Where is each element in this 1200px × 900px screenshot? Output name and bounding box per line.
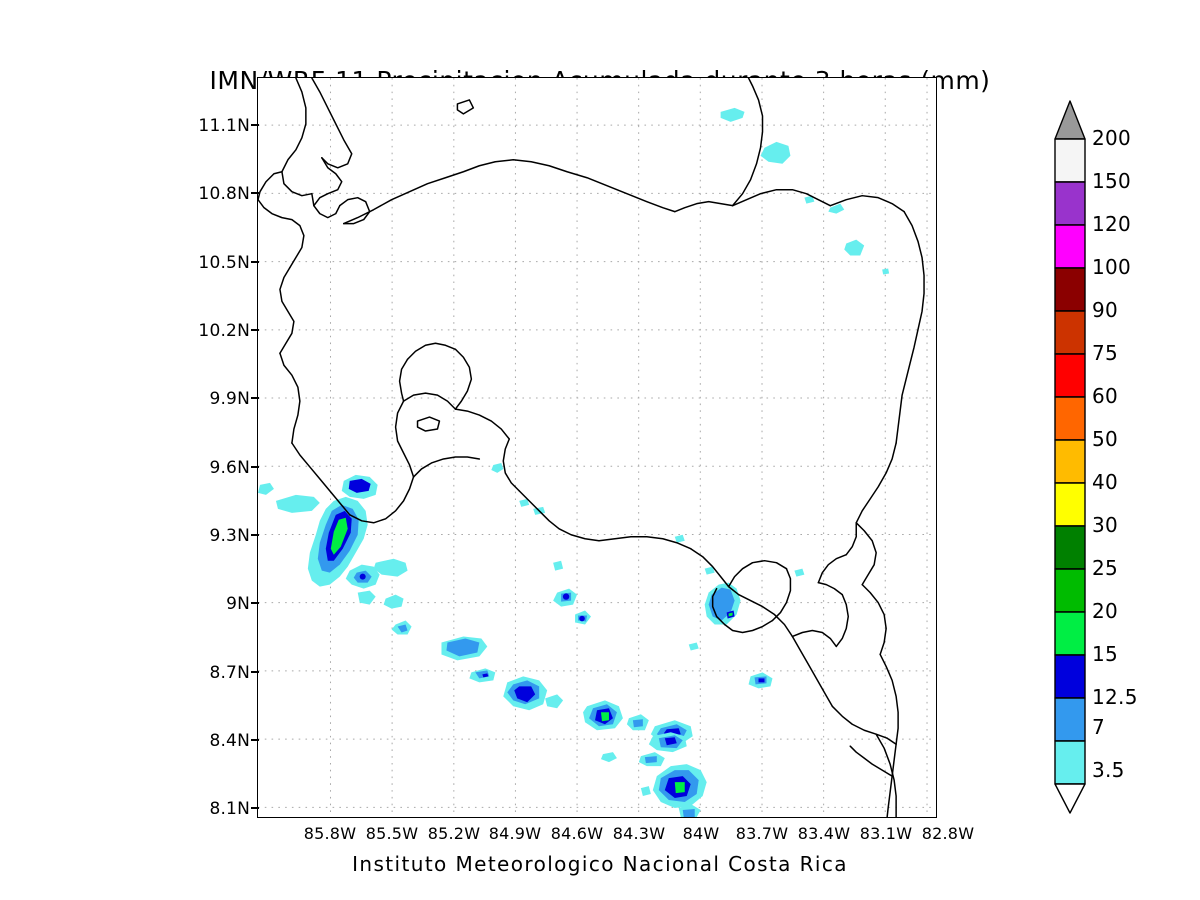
y-tick-mark xyxy=(251,261,259,263)
precip-cell-nicoya xyxy=(308,475,408,605)
y-tick-mark xyxy=(251,466,259,468)
colorbar-tick-label: 50 xyxy=(1092,427,1118,451)
y-tick-mark xyxy=(251,329,259,331)
colorbar-tick-label: 25 xyxy=(1092,556,1118,580)
y-tick-label: 10.5N xyxy=(180,253,250,273)
precip-cell-chain-5 xyxy=(583,700,623,730)
colorbar-tick-label: 15 xyxy=(1092,642,1118,666)
y-tick-label: 9.9N xyxy=(180,389,250,409)
precip-cell-central xyxy=(491,463,591,625)
y-tick-mark xyxy=(251,397,259,399)
colorbar-tick-label: 40 xyxy=(1092,470,1118,494)
y-tick-mark xyxy=(251,192,259,194)
y-tick-label: 9.6N xyxy=(180,458,250,478)
y-tick-mark xyxy=(251,124,259,126)
precip-cell-offshore-west xyxy=(258,483,320,513)
precip-cell-chain-2 xyxy=(441,636,487,660)
y-tick-label: 8.7N xyxy=(180,663,250,683)
colorbar-swatches xyxy=(1051,99,1089,815)
x-tick-label: 82.8W xyxy=(908,824,988,843)
colorbar-tick-label: 7 xyxy=(1092,715,1105,739)
y-tick-mark xyxy=(251,739,259,741)
colorbar-tick-label: 12.5 xyxy=(1092,685,1138,709)
precip-cell-caribbean xyxy=(675,108,889,543)
figure-root: IMN/WRF-11 Precipitacion Acumulada duran… xyxy=(0,0,1200,900)
colorbar-tick-label: 30 xyxy=(1092,513,1118,537)
y-tick-mark xyxy=(251,534,259,536)
precip-cell-chain-1 xyxy=(384,595,412,635)
colorbar-over-arrow xyxy=(1055,101,1085,139)
y-tick-label: 9N xyxy=(180,594,250,614)
colorbar-tick-label: 75 xyxy=(1092,341,1118,365)
precip-cell-chain-8 xyxy=(601,752,665,766)
y-tick-label: 8.4N xyxy=(180,731,250,751)
colorbar-tick-label: 200 xyxy=(1092,126,1131,150)
precip-cell-chain-4 xyxy=(503,676,563,710)
map-canvas xyxy=(258,78,936,817)
colorbar-under-arrow xyxy=(1055,784,1085,813)
precip-cell-chain-6 xyxy=(627,714,649,730)
y-tick-label: 11.1N xyxy=(180,116,250,136)
y-tick-label: 9.3N xyxy=(180,526,250,546)
colorbar-tick-label: 90 xyxy=(1092,298,1118,322)
y-tick-label: 10.8N xyxy=(180,184,250,204)
map-plot-area xyxy=(257,77,937,818)
y-tick-label: 8.1N xyxy=(180,799,250,819)
precip-cell-misc-south xyxy=(553,561,804,651)
y-tick-label: 10.2N xyxy=(180,321,250,341)
colorbar-tick-label: 100 xyxy=(1092,255,1131,279)
colorbar-tick-label: 150 xyxy=(1092,169,1131,193)
y-tick-mark xyxy=(251,807,259,809)
colorbar-tick-label: 3.5 xyxy=(1092,758,1125,782)
colorbar[interactable] xyxy=(1051,99,1089,815)
colorbar-tick-label: 120 xyxy=(1092,212,1131,236)
precip-cell-osa xyxy=(641,732,707,817)
figure-footer: Instituto Meteorologico Nacional Costa R… xyxy=(0,852,1200,876)
y-tick-mark xyxy=(251,602,259,604)
precipitation-field xyxy=(258,108,889,817)
y-tick-mark xyxy=(251,671,259,673)
colorbar-tick-label: 20 xyxy=(1092,599,1118,623)
precip-cell-chain-3 xyxy=(469,668,495,682)
colorbar-tick-label: 60 xyxy=(1092,384,1118,408)
